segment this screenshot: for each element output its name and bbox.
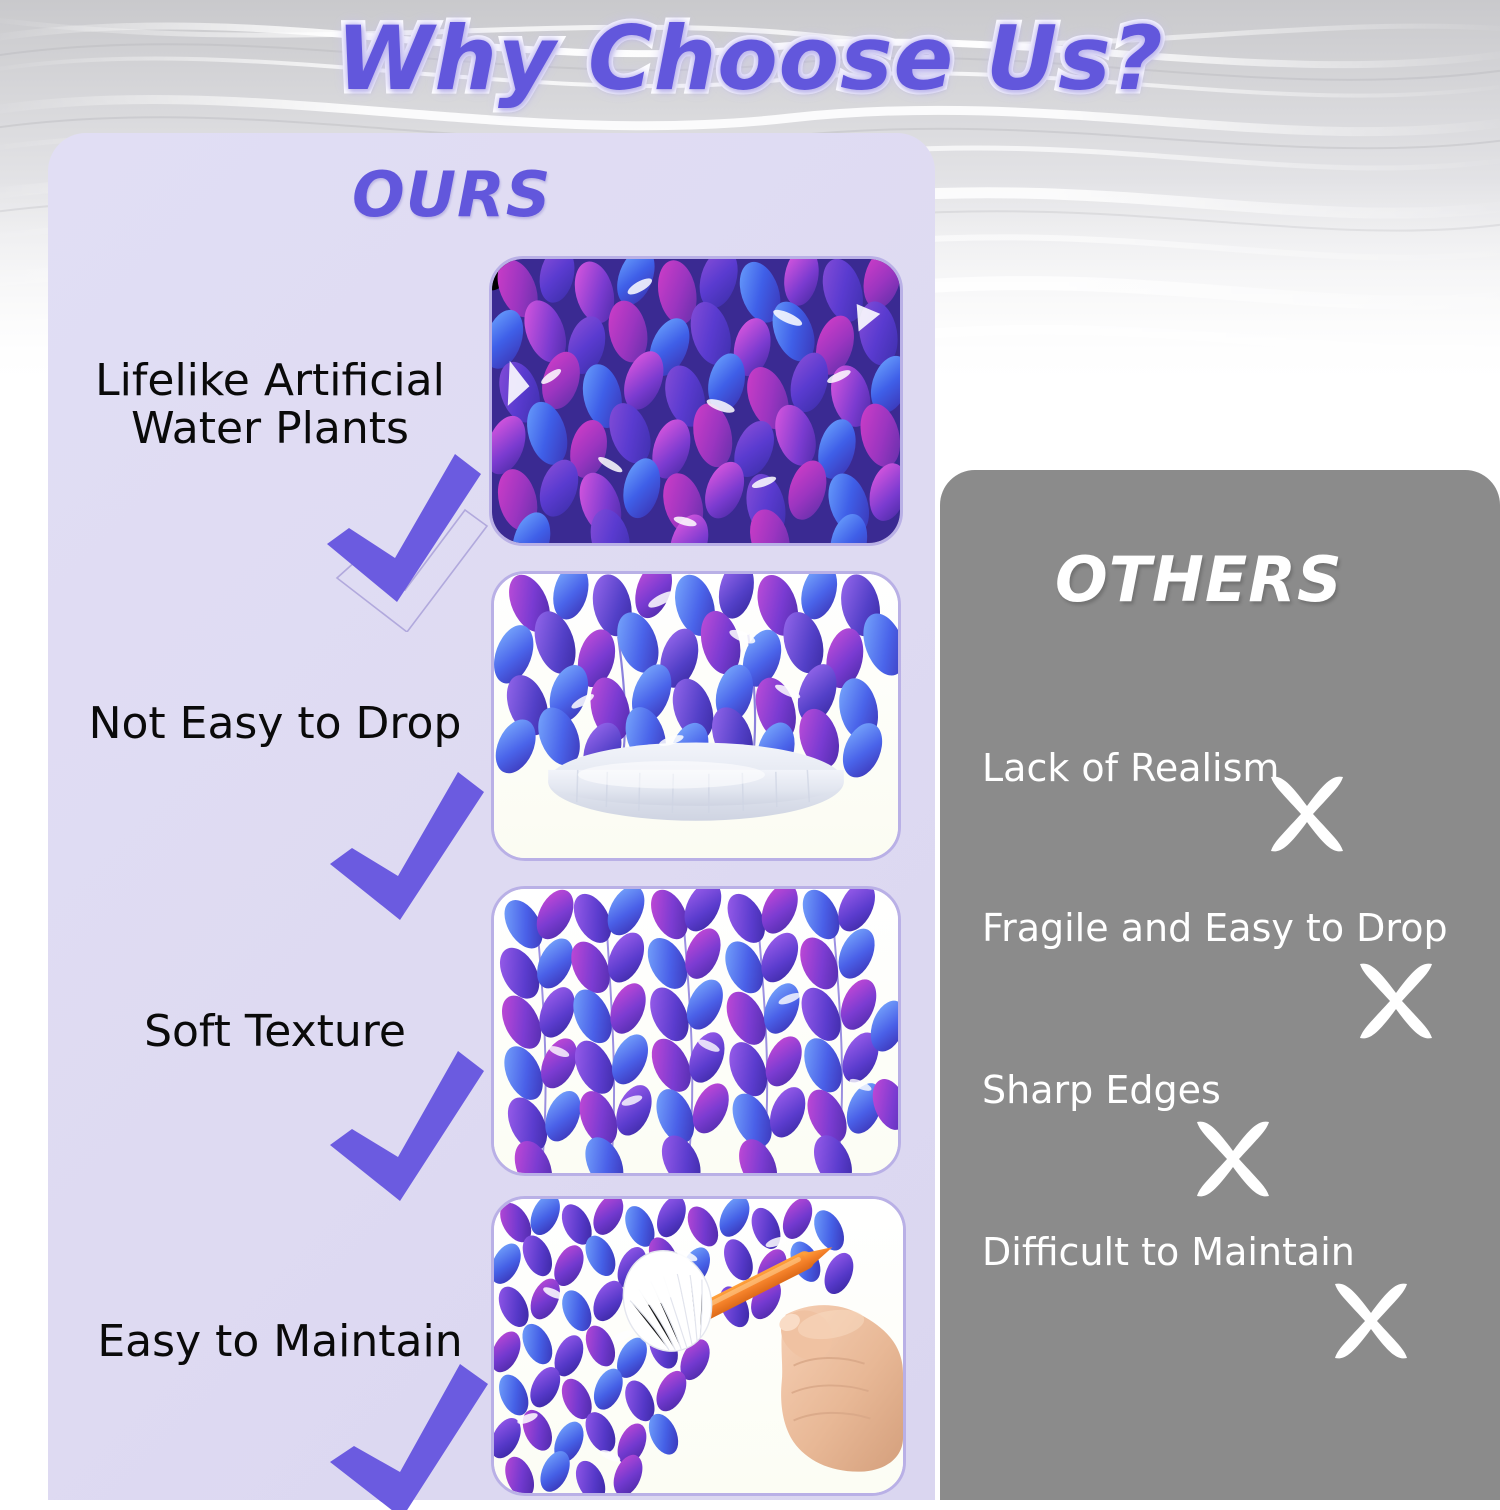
ours-photo-soft-texture — [491, 886, 901, 1176]
ours-photo-easy-to-maintain — [491, 1196, 906, 1496]
ours-item-label: Lifelike Artificial Water Plants — [60, 357, 480, 452]
ours-photo-lifelike-plants — [489, 256, 903, 546]
dense-purple-leaves-closeup — [492, 259, 900, 543]
cross-icon — [1266, 773, 1348, 855]
check-icon — [315, 452, 490, 632]
check-icon — [318, 1045, 493, 1215]
ours-heading: OURS — [352, 158, 551, 231]
plant-on-white-ceramic-base — [494, 574, 898, 858]
others-item-label: Fragile and Easy to Drop — [982, 908, 1448, 950]
others-item-label: Lack of Realism — [982, 748, 1279, 790]
others-item-label: Sharp Edges — [982, 1070, 1221, 1112]
ours-photo-not-easy-to-drop — [491, 571, 901, 861]
page-title: Why Choose Us? — [336, 15, 1163, 103]
check-icon — [318, 768, 493, 933]
page-title-container: Why Choose Us? — [0, 4, 1500, 114]
hand-cleaning-plant-with-orange-brush — [494, 1199, 903, 1493]
cross-icon — [1330, 1280, 1412, 1362]
others-heading: OTHERS — [1055, 543, 1343, 616]
ours-item-label: Not Easy to Drop — [60, 700, 490, 748]
cross-icon — [1192, 1118, 1274, 1200]
cross-icon — [1355, 960, 1437, 1042]
purple-plant-stems-on-white — [494, 889, 898, 1173]
check-icon — [318, 1360, 496, 1510]
others-item-label: Difficult to Maintain — [982, 1232, 1355, 1274]
ours-item-label: Easy to Maintain — [60, 1318, 500, 1366]
